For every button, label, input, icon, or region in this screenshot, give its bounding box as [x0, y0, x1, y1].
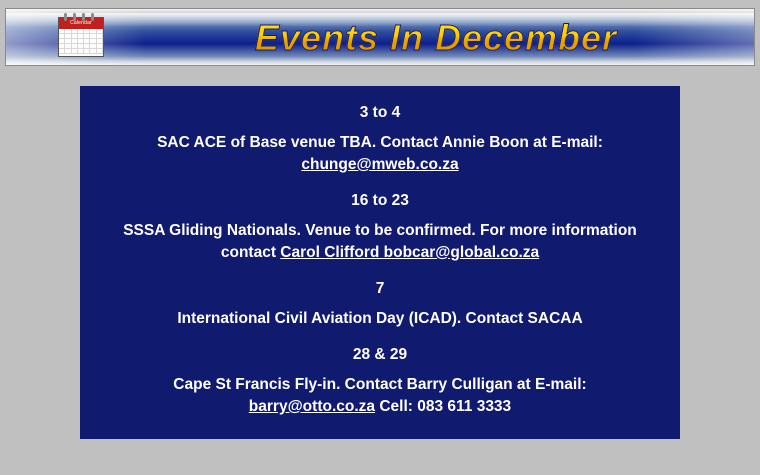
- event-date: 16 to 23: [98, 188, 662, 214]
- event-entry: 16 to 23 SSSA Gliding Nationals. Venue t…: [98, 188, 662, 264]
- event-entry: 28 & 29 Cape St Francis Fly-in. Contact …: [98, 342, 662, 418]
- calendar-icon-rings: [58, 13, 104, 21]
- event-description: Cape St Francis Fly-in. Contact Barry Cu…: [98, 374, 662, 418]
- event-date: 28 & 29: [98, 342, 662, 368]
- event-description: SAC ACE of Base venue TBA. Contact Annie…: [98, 132, 662, 176]
- calendar-icon: Calendar: [58, 17, 104, 57]
- events-panel: 3 to 4 SAC ACE of Base venue TBA. Contac…: [80, 86, 680, 439]
- event-description: International Civil Aviation Day (ICAD).…: [98, 308, 662, 330]
- event-description: SSSA Gliding Nationals. Venue to be conf…: [98, 220, 662, 264]
- event-email-link[interactable]: Carol Clifford bobcar@global.co.za: [280, 244, 539, 261]
- banner-background: Calendar Events In December: [5, 8, 755, 66]
- event-entry: 7 International Civil Aviation Day (ICAD…: [98, 276, 662, 330]
- event-email-link[interactable]: chunge@mweb.co.za: [301, 156, 458, 173]
- page-banner: Calendar Events In December: [5, 8, 755, 66]
- event-description-text: SAC ACE of Base venue TBA. Contact Annie…: [157, 134, 603, 151]
- calendar-icon-grid: [59, 29, 103, 56]
- event-description-text: Cape St Francis Fly-in. Contact Barry Cu…: [173, 376, 586, 393]
- page-title: Events In December: [136, 9, 736, 67]
- event-entry: 3 to 4 SAC ACE of Base venue TBA. Contac…: [98, 100, 662, 176]
- event-date: 3 to 4: [98, 100, 662, 126]
- event-date: 7: [98, 276, 662, 302]
- event-description-text: International Civil Aviation Day (ICAD).…: [177, 310, 582, 327]
- event-phone-text: Cell: 083 611 3333: [375, 398, 511, 415]
- event-email-link[interactable]: barry@otto.co.za: [249, 398, 375, 415]
